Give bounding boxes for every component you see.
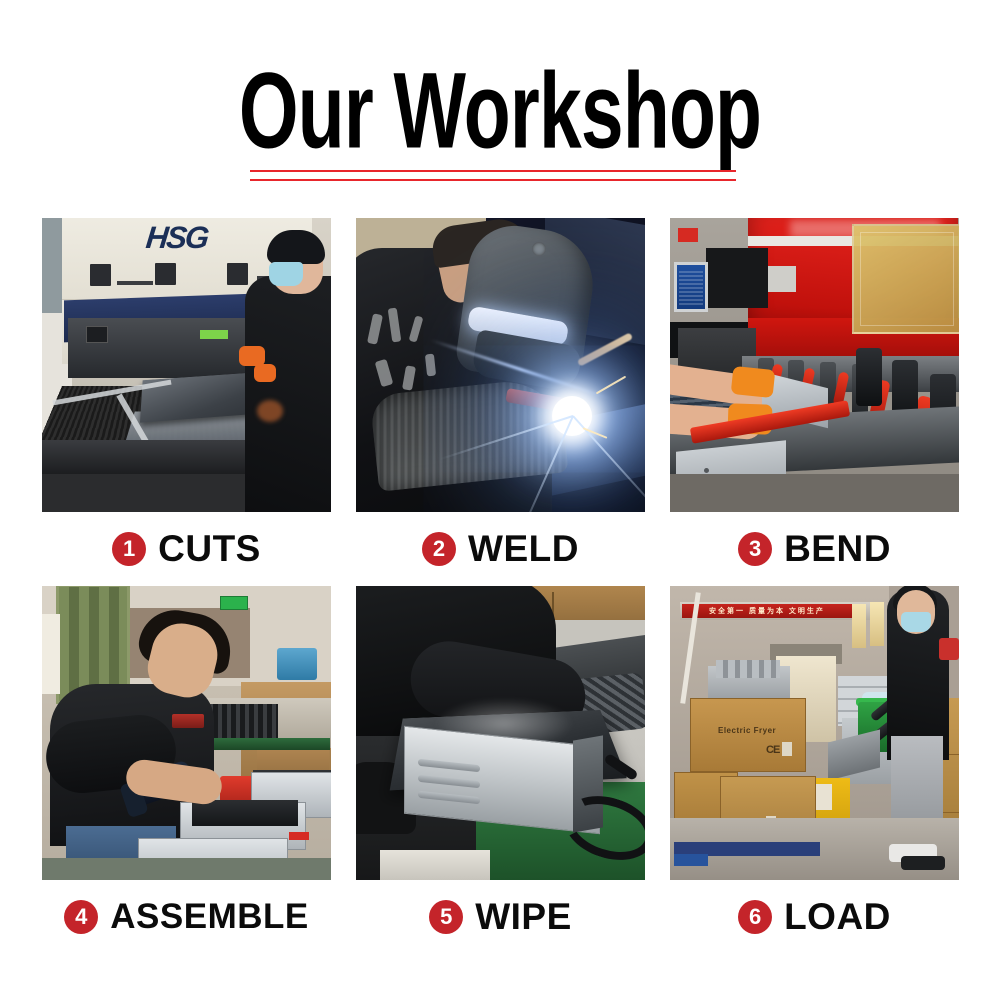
step-label: ASSEMBLE <box>110 897 308 937</box>
electrical-cabinet <box>706 248 768 308</box>
step-label: BEND <box>784 528 891 570</box>
warehouse-window <box>852 604 866 648</box>
appliance-top-panel <box>192 800 298 826</box>
underline-line-top <box>250 170 736 172</box>
wall-banner: 安全第一 质量为本 文明生产 <box>682 604 852 618</box>
step-card-3: 3 BEND <box>670 218 959 586</box>
step-number-badge: 6 <box>738 900 772 934</box>
glove-reflection <box>257 400 283 422</box>
step-card-6: 安全第一 质量为本 文明生产 <box>670 586 959 954</box>
orange-glove <box>254 364 276 382</box>
step-card-5: 5 WIPE <box>356 586 645 954</box>
step-number-badge: 1 <box>112 532 146 566</box>
safety-guard-panel <box>852 224 959 334</box>
machine-control-panel <box>86 326 108 343</box>
warehouse-window <box>870 602 884 646</box>
page-title: Our Workshop <box>100 58 900 166</box>
step-caption-4: 4 ASSEMBLE <box>42 880 331 954</box>
carton-electric-fryer <box>690 698 806 772</box>
underline-line-bottom <box>250 179 736 181</box>
worker-torso <box>245 276 331 512</box>
step-label: WIPE <box>475 896 572 938</box>
face-mask-icon <box>269 262 303 286</box>
workshop-step-grid: HSG <box>42 218 958 954</box>
step-caption-5: 5 WIPE <box>356 880 645 954</box>
tool-holder-block <box>856 348 882 406</box>
carton-shipping-tag <box>782 742 792 756</box>
control-indicator <box>289 832 309 840</box>
stacked-panels-top <box>716 660 780 678</box>
assembly-photo <box>42 586 331 880</box>
window-light <box>42 614 60 694</box>
step-label: LOAD <box>784 896 891 938</box>
step-card-4: 4 ASSEMBLE <box>42 586 331 954</box>
step-card-2: 2 WELD <box>356 218 645 586</box>
step-caption-6: 6 LOAD <box>670 880 959 954</box>
step-label: CUTS <box>158 528 261 570</box>
carton-label-text: Electric Fryer <box>718 726 776 735</box>
machine-vent-icon <box>90 264 111 286</box>
banner-text: 安全第一 质量为本 文明生产 <box>709 606 825 616</box>
ce-mark-icon: CE <box>766 744 779 756</box>
title-underline <box>250 170 736 181</box>
machine-vent-icon <box>227 263 248 285</box>
machine-brand-logo: HSG <box>144 220 209 256</box>
worker-hair <box>267 230 325 264</box>
jacket-badge <box>939 638 959 660</box>
step-caption-1: 1 CUTS <box>42 512 331 586</box>
shirt-logo <box>172 714 204 728</box>
welding-photo <box>356 218 645 512</box>
monitor-header-bar <box>678 228 698 242</box>
exit-sign-icon <box>220 596 248 610</box>
cnc-control-monitor <box>674 262 708 312</box>
panel-hole <box>704 468 709 473</box>
status-led-icon <box>200 330 228 339</box>
pallet-jack-label <box>816 784 832 810</box>
helmet-pivot-knob <box>532 242 546 256</box>
workshop-floor <box>670 474 959 512</box>
step-label: WELD <box>468 528 579 570</box>
step-number-badge: 2 <box>422 532 456 566</box>
step-number-badge: 3 <box>738 532 772 566</box>
machine-vent-icon <box>155 263 176 285</box>
step-number-badge: 5 <box>429 900 463 934</box>
white-table-front <box>380 850 490 880</box>
press-brake-bending-photo <box>670 218 959 512</box>
step-caption-3: 3 BEND <box>670 512 959 586</box>
shelf-bottles <box>277 648 317 680</box>
header: Our Workshop <box>0 58 1000 154</box>
step-card-1: HSG <box>42 218 331 586</box>
loading-photo: 安全第一 质量为本 文明生产 <box>670 586 959 880</box>
workshop-infographic: Our Workshop HSG <box>0 0 1000 1000</box>
orange-glove <box>731 366 776 398</box>
step-number-badge: 4 <box>64 900 98 934</box>
workshop-floor <box>42 858 331 880</box>
face-mask-icon <box>901 612 931 632</box>
wiping-photo <box>356 586 645 880</box>
worker-shoe <box>901 856 945 870</box>
orange-glove <box>239 346 265 366</box>
blue-pallet-block <box>674 854 708 866</box>
step-caption-2: 2 WELD <box>356 512 645 586</box>
laser-cutting-machine-photo: HSG <box>42 218 331 512</box>
machine-slot <box>117 281 153 285</box>
